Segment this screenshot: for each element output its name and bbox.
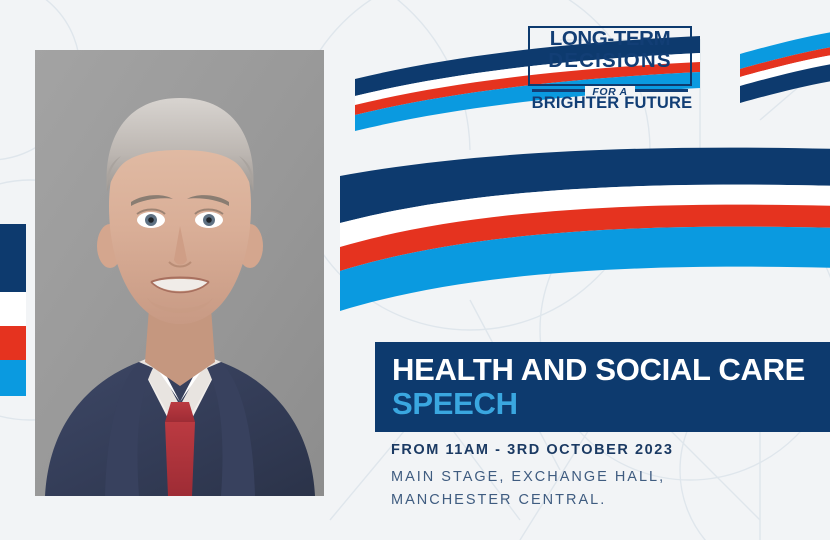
event-venue-line-1: MAIN STAGE, EXCHANGE HALL, <box>391 466 821 489</box>
poster-canvas: LONG-TERM DECISIONS FOR A BRIGHTER FUTUR… <box>0 0 830 540</box>
logo-line-2: DECISIONS <box>528 50 692 72</box>
portrait-illustration <box>35 50 324 496</box>
logo-line-4: BRIGHTER FUTURE <box>526 94 698 113</box>
event-title-subline: SPEECH <box>392 386 830 422</box>
event-details: FROM 11AM - 3RD OCTOBER 2023 MAIN STAGE,… <box>391 440 821 512</box>
logo-line-1: LONG-TERM <box>528 28 692 50</box>
left-stripe-navy <box>0 224 26 292</box>
event-title: HEALTH AND SOCIAL CARE <box>392 352 830 388</box>
event-venue: MAIN STAGE, EXCHANGE HALL, MANCHESTER CE… <box>391 466 821 512</box>
left-edge-stripes <box>0 224 26 396</box>
left-stripe-red <box>0 326 26 360</box>
left-stripe-white <box>0 292 26 326</box>
event-time: FROM 11AM - 3RD OCTOBER 2023 <box>391 440 821 460</box>
left-stripe-lightblue <box>0 360 26 396</box>
speaker-portrait-photo <box>35 50 324 496</box>
event-venue-line-2: MANCHESTER CENTRAL. <box>391 489 821 512</box>
campaign-logo: LONG-TERM DECISIONS FOR A BRIGHTER FUTUR… <box>528 26 696 114</box>
